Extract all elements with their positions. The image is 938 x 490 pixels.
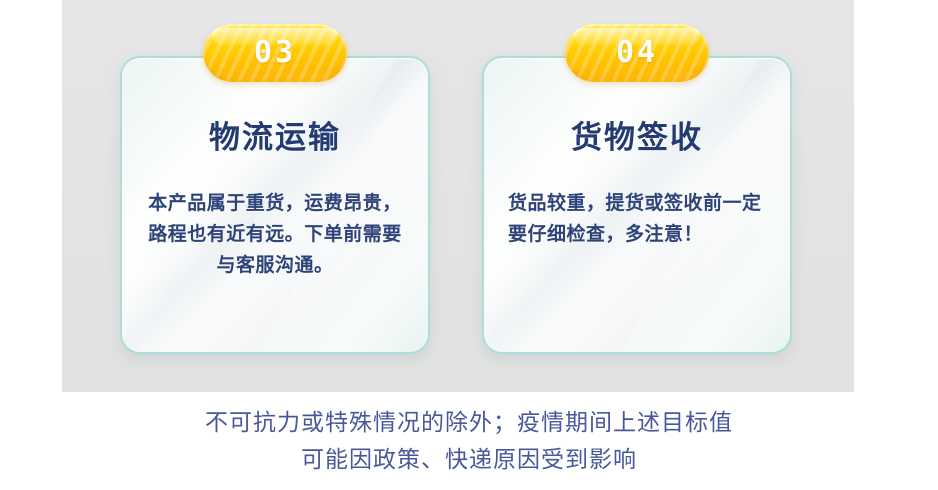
card-title: 物流运输 [209, 122, 341, 153]
info-card-04[interactable]: 货物签收 货品较重，提货或签收前一定要仔细检查，多注意！ 04 [482, 56, 792, 354]
card-content: 物流运输 本产品属于重货，运费昂贵，路程也有近有远。下单前需要与客服沟通。 [120, 56, 430, 354]
step-number: 03 [254, 38, 296, 68]
footer-note: 不可抗力或特殊情况的除外；疫情期间上述目标值 可能因政策、快递原因受到影响 [0, 392, 938, 490]
card-body-text: 货品较重，提货或签收前一定要仔细检查，多注意！ [504, 189, 770, 251]
card-deck: 物流运输 本产品属于重货，运费昂贵，路程也有近有远。下单前需要与客服沟通。 03… [62, 0, 854, 392]
card-title: 货物签收 [571, 122, 703, 153]
footer-line-1: 不可抗力或特殊情况的除外；疫情期间上述目标值 [205, 404, 733, 441]
step-badge: 04 [565, 24, 709, 82]
card-content: 货物签收 货品较重，提货或签收前一定要仔细检查，多注意！ [482, 56, 792, 354]
step-number: 04 [616, 38, 658, 68]
footer-line-2: 可能因政策、快递原因受到影响 [301, 441, 637, 478]
info-card-03[interactable]: 物流运输 本产品属于重货，运费昂贵，路程也有近有远。下单前需要与客服沟通。 03 [120, 56, 430, 354]
step-badge: 03 [203, 24, 347, 82]
card-body-text: 本产品属于重货，运费昂贵，路程也有近有远。下单前需要与客服沟通。 [142, 189, 408, 281]
